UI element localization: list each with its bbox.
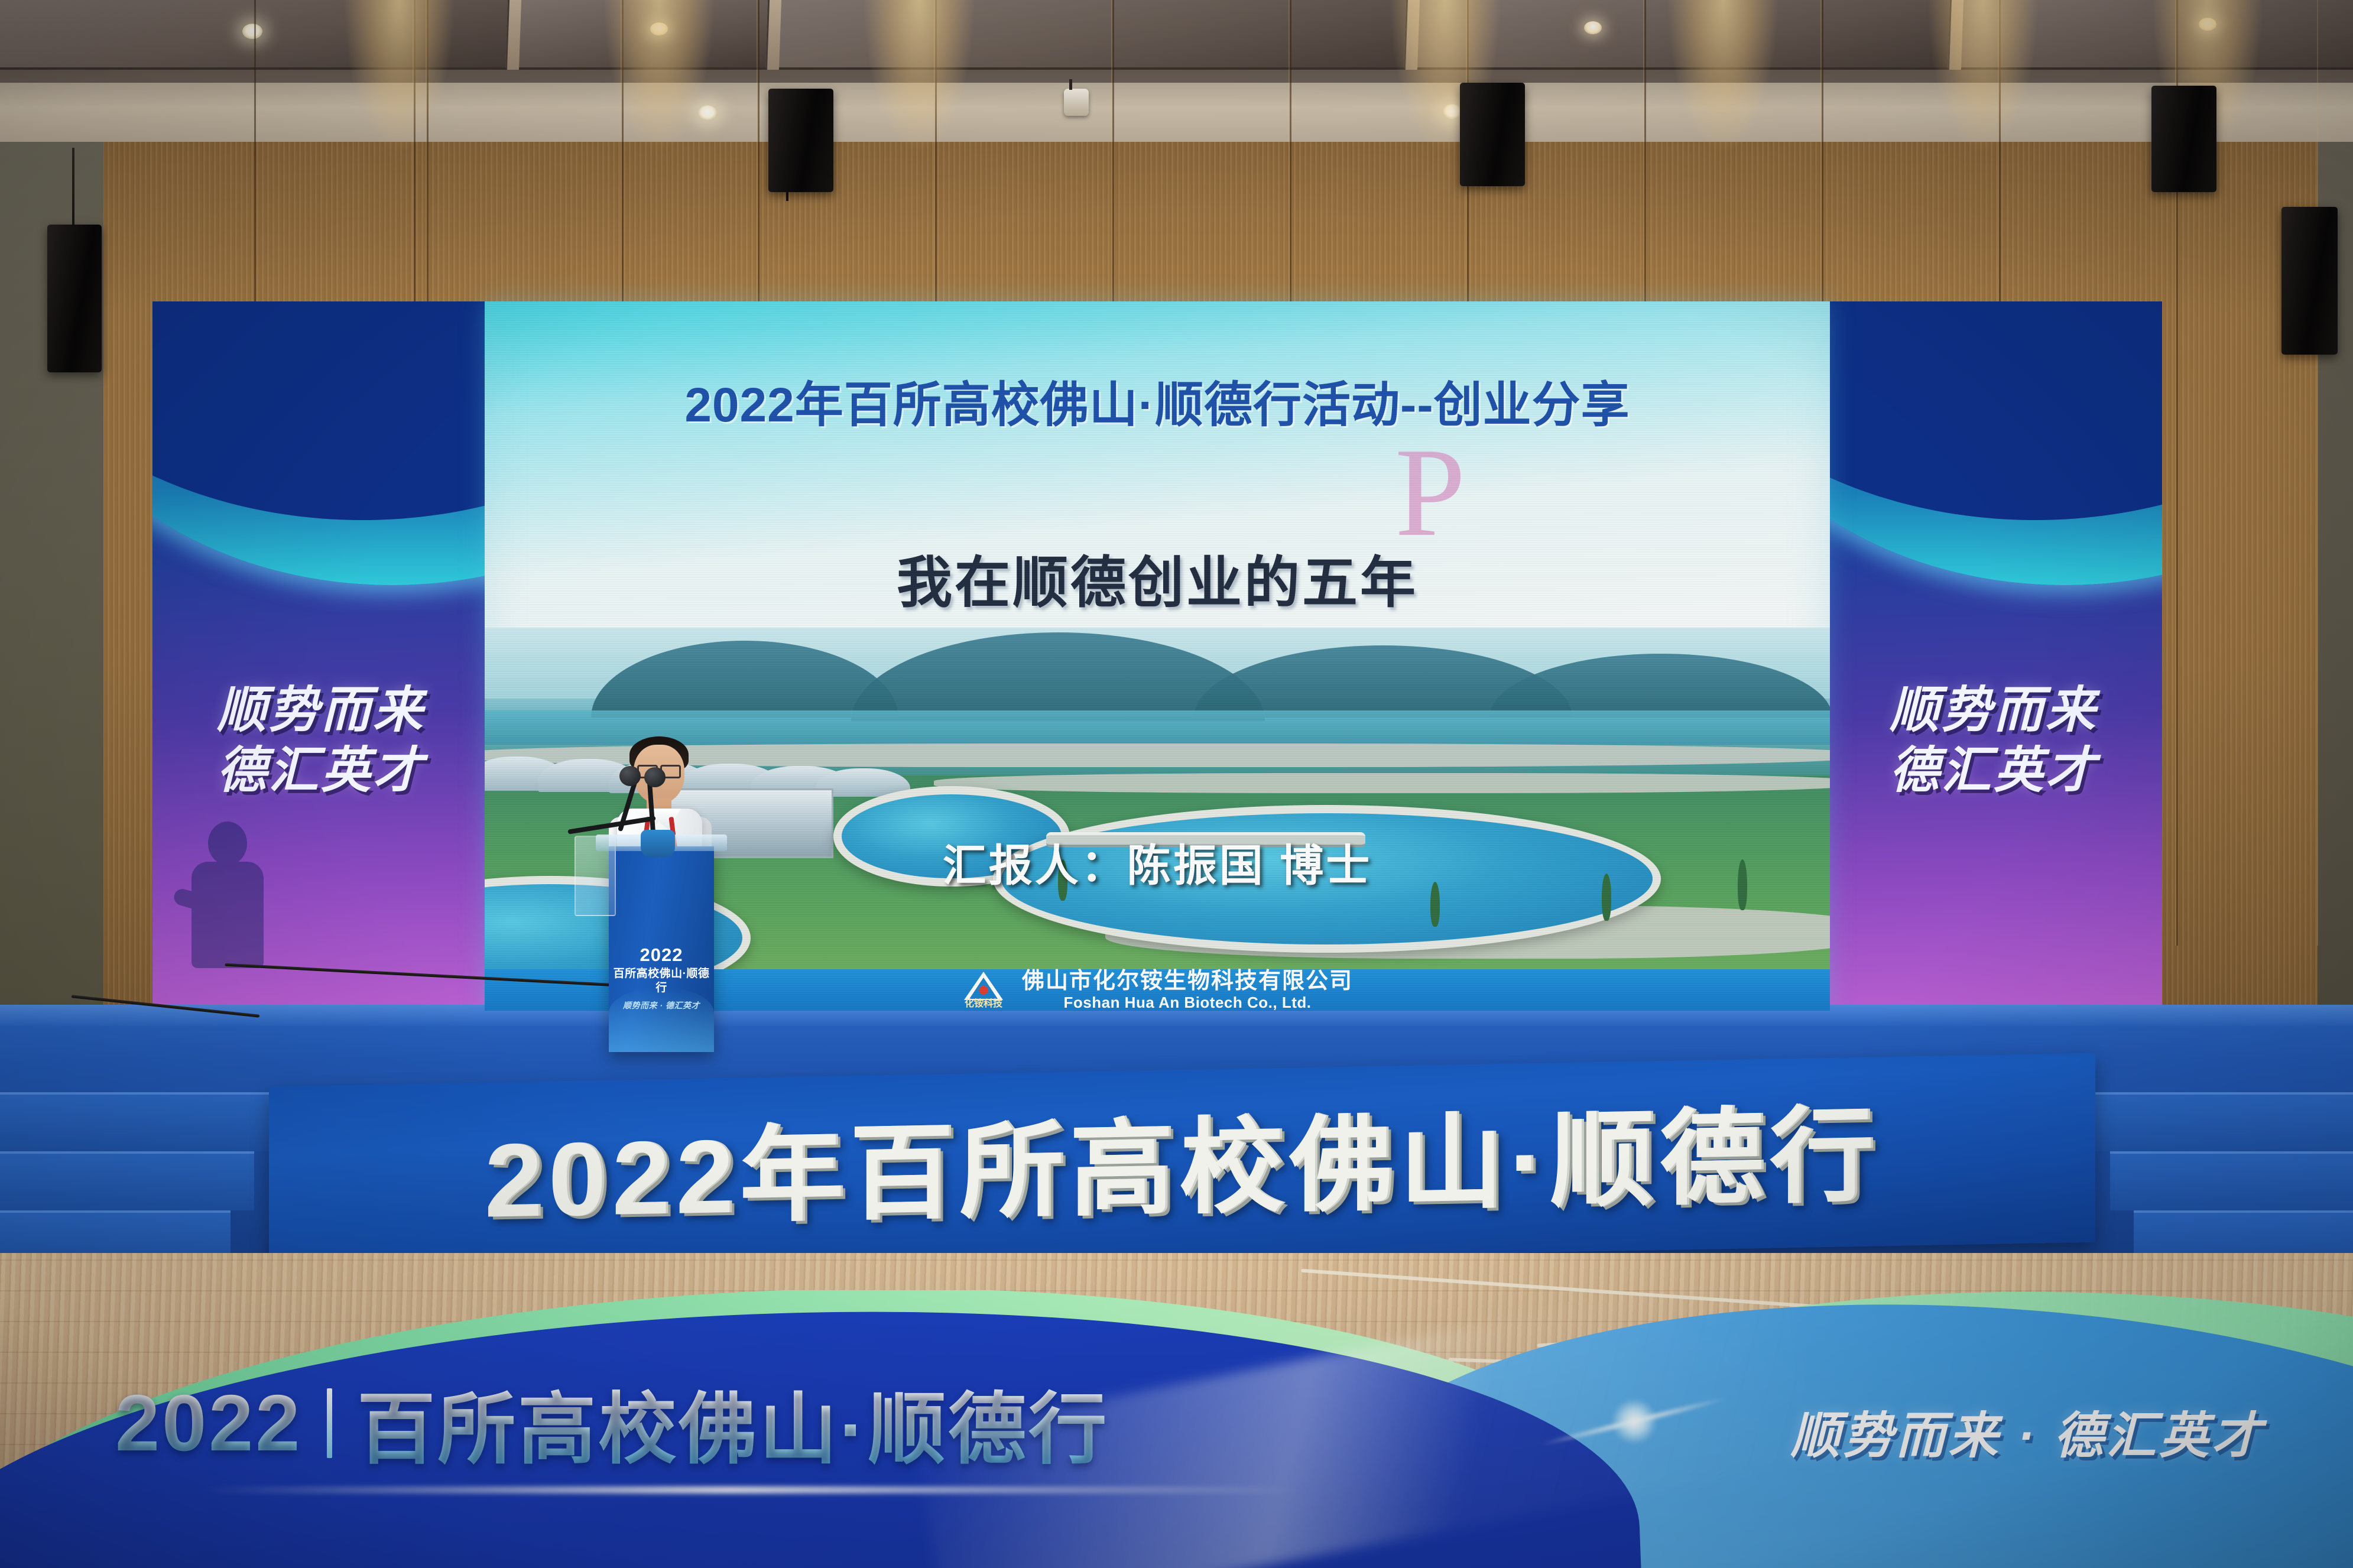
hanging-speaker <box>2281 207 2338 355</box>
hanging-speaker <box>47 225 102 372</box>
backdrop-right-panel: 顺势而来 德汇英才 <box>1825 301 2162 1011</box>
company-logo-icon: 化铵科技 <box>962 972 1005 1008</box>
crescent-mask <box>1825 301 2162 520</box>
overlay-title-group: 2022 百所高校佛山·顺德行 <box>115 1366 1109 1479</box>
decorative-p-watermark: P <box>1395 428 1466 556</box>
podium-year: 2022 <box>609 943 714 967</box>
company-name-en: Foshan Hua An Biotech Co., Ltd. <box>1064 994 1312 1011</box>
company-logo-label: 化铵科技 <box>962 995 1005 1009</box>
microphone-head <box>644 767 666 787</box>
microphone-head <box>619 766 641 786</box>
stage-step <box>2086 1092 2353 1151</box>
bottom-branding-overlay: 2022 百所高校佛山·顺德行 顺势而来 · 德汇英才 <box>0 1290 2353 1568</box>
crescent-mask <box>152 301 489 520</box>
hanging-speaker <box>2151 86 2216 192</box>
company-name-cn: 佛山市化尔铵生物科技有限公司 <box>1022 969 1353 994</box>
podium-branding: 2022 百所高校佛山·顺德行 顺势而来 · 德汇英才 <box>609 943 714 1011</box>
overlay-slogan: 顺势而来 · 德汇英才 <box>1790 1396 2264 1468</box>
stage-step <box>2110 1151 2353 1210</box>
overlay-divider <box>327 1388 332 1458</box>
stage-scene: 顺势而来 德汇英才 顺势而来 德汇英才 2022年百所高校佛山·顺德行活动--创… <box>0 0 2353 1568</box>
overlay-title: 百所高校佛山·顺德行 <box>357 1366 1109 1479</box>
smoke-detector <box>1064 89 1089 116</box>
stage-backdrop: 顺势而来 德汇英才 顺势而来 德汇英才 2022年百所高校佛山·顺德行活动--创… <box>152 301 2162 1011</box>
podium-event-name: 百所高校佛山·顺德行 <box>609 967 714 996</box>
lens-flare-icon <box>1546 1333 1723 1510</box>
left-slogan-line2: 德汇英才 <box>152 740 489 800</box>
right-slogan-line1: 顺势而来 <box>1825 680 2162 740</box>
hanging-speaker <box>768 89 833 192</box>
stage-step <box>0 1151 254 1210</box>
slide-subtitle: 我在顺德创业的五年 <box>485 538 1830 618</box>
right-panel-slogan: 顺势而来 德汇英才 <box>1825 680 2162 801</box>
handheld-microphone <box>641 830 675 857</box>
overlay-underline-shine <box>201 1486 1300 1494</box>
overlay-year: 2022 <box>115 1377 302 1469</box>
stage-banner-text: 2022年百所高校佛山·顺德行 <box>269 1047 2095 1270</box>
hanging-speaker <box>1460 83 1525 186</box>
photo-road <box>934 773 1830 793</box>
podium-slogan: 顺势而来 · 德汇英才 <box>609 1001 714 1011</box>
company-names: 佛山市化尔铵生物科技有限公司 Foshan Hua An Biotech Co.… <box>1022 969 1353 1011</box>
right-slogan-line2: 德汇英才 <box>1825 740 2162 800</box>
left-slogan-line1: 顺势而来 <box>152 680 489 740</box>
left-panel-slogan: 顺势而来 德汇英才 <box>152 680 489 801</box>
podium: 2022 百所高校佛山·顺德行 顺势而来 · 德汇英才 <box>609 846 714 1052</box>
slide-title: 2022年百所高校佛山·顺德行活动--创业分享 <box>485 365 1830 436</box>
speaker-shadow <box>177 822 284 1017</box>
stage-step <box>0 1092 278 1151</box>
